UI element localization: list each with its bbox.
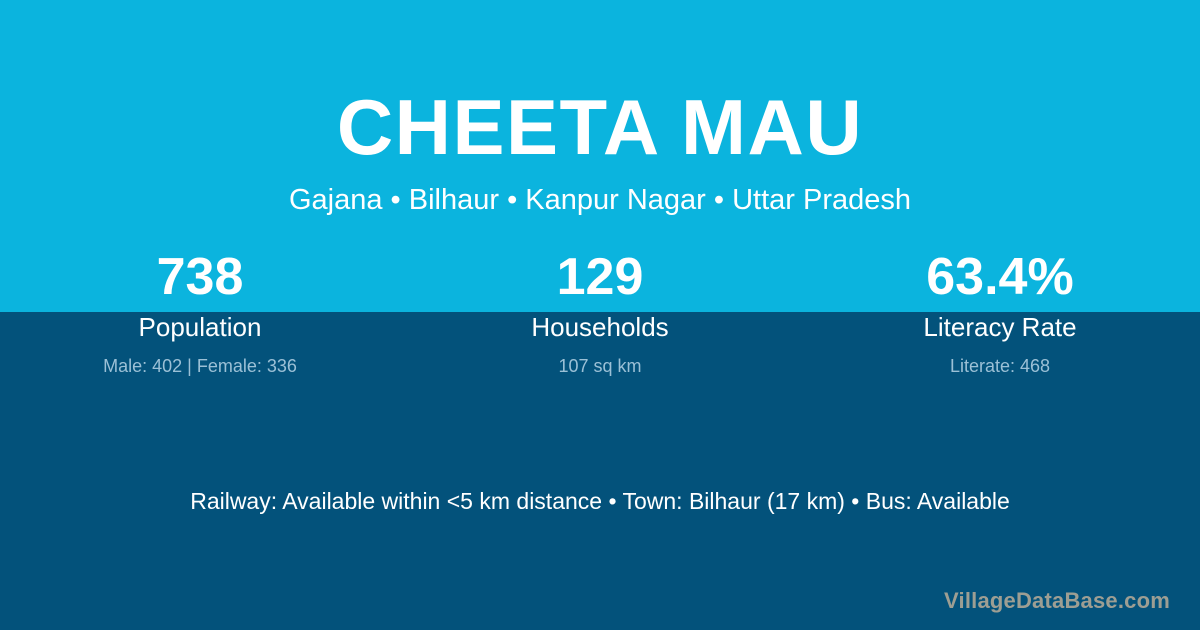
page-title: CHEETA MAU	[0, 80, 1200, 174]
card-content: CHEETA MAU Gajana • Bilhaur • Kanpur Nag…	[0, 0, 1200, 630]
stat-label: Literacy Rate	[800, 310, 1200, 344]
breadcrumb: Gajana • Bilhaur • Kanpur Nagar • Uttar …	[0, 180, 1200, 220]
stat-value: 129	[400, 246, 800, 308]
stat-literacy-rate: 63.4% Literacy Rate Literate: 468	[800, 246, 1200, 379]
village-info-card: CHEETA MAU Gajana • Bilhaur • Kanpur Nag…	[0, 0, 1200, 630]
site-brand: VillageDataBase.com	[944, 586, 1170, 616]
stat-sublabel: Literate: 468	[800, 353, 1200, 379]
amenities-info-line: Railway: Available within <5 km distance…	[0, 485, 1200, 517]
stat-population: 738 Population Male: 402 | Female: 336	[0, 246, 400, 379]
stat-label: Households	[400, 310, 800, 344]
stat-households: 129 Households 107 sq km	[400, 246, 800, 379]
stat-sublabel: Male: 402 | Female: 336	[0, 353, 400, 379]
stat-value: 63.4%	[800, 246, 1200, 308]
stat-sublabel: 107 sq km	[400, 353, 800, 379]
stat-value: 738	[0, 246, 400, 308]
stats-row: 738 Population Male: 402 | Female: 336 1…	[0, 246, 1200, 379]
stat-label: Population	[0, 310, 400, 344]
